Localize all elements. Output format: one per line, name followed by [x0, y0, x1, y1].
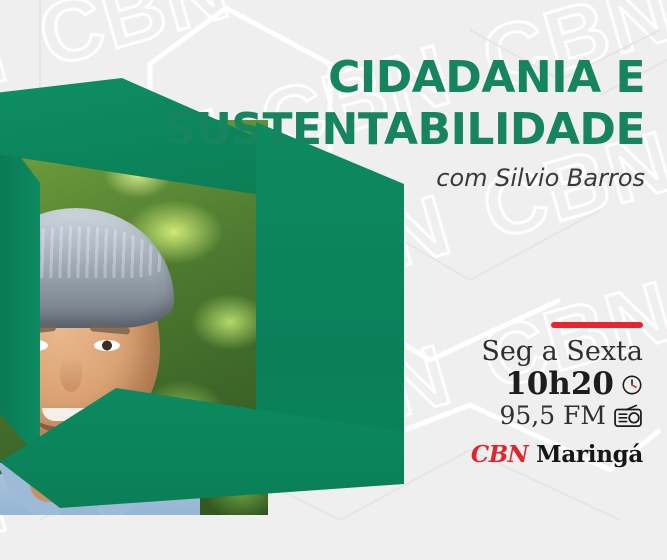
portrait-eye-right: [94, 340, 120, 351]
program-title-line1: CIDADANIA E: [165, 56, 645, 100]
schedule-block: Seg a Sexta 10h20 95,5 FM: [413, 322, 643, 468]
broadcast-time-row: 10h20: [413, 368, 643, 401]
broadcast-days: Seg a Sexta: [413, 338, 643, 366]
title-block: CIDADANIA E SUSTENTABILIDADE com Silvio …: [165, 56, 645, 192]
portrait-nose: [60, 356, 82, 392]
cbn-logo-city: Maringá: [536, 441, 643, 468]
promo-card: CBN CBN CBN CBN CBN CBN CBN CBN CBN CBN …: [0, 0, 667, 560]
frequency-row: 95,5 FM: [413, 403, 643, 429]
box-face-left: [0, 130, 40, 460]
program-title-line2: SUSTENTABILIDADE: [165, 108, 645, 152]
station-logo: CBN Maringá: [413, 441, 643, 468]
accent-divider: [551, 322, 643, 328]
broadcast-time: 10h20: [505, 368, 614, 401]
watermark-cbn: CBN: [252, 0, 461, 17]
cbn-logo-mark: CBN: [471, 441, 528, 468]
radio-icon: [613, 404, 643, 428]
program-host: com Silvio Barros: [165, 164, 645, 192]
station-frequency: 95,5 FM: [499, 403, 606, 429]
clock-icon: [621, 374, 643, 396]
